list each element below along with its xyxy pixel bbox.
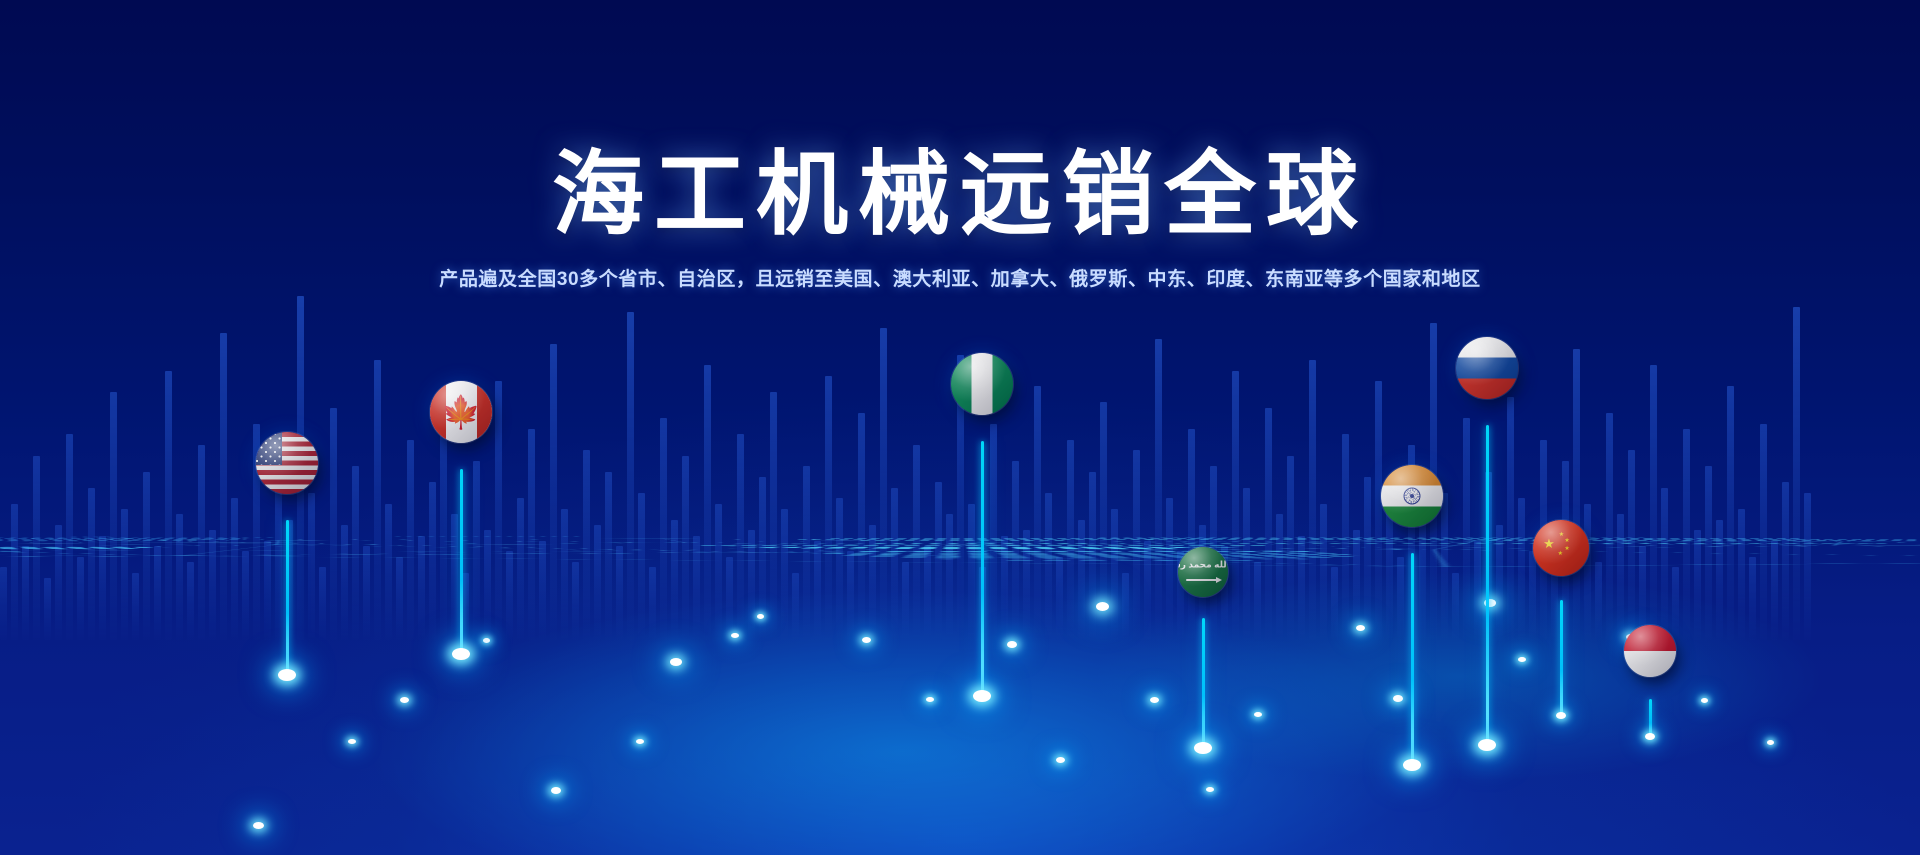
chart-bar [506,551,513,640]
map-node [551,787,561,794]
chart-bar [1716,520,1723,640]
chart-bar [308,493,315,640]
chart-bar [0,567,7,640]
chart-bar [1287,456,1294,640]
chart-bar [1100,402,1107,640]
pin-flag-disc[interactable] [1381,465,1443,527]
flag-ru-icon [1456,337,1518,399]
hero-banner: 美国🍁加拿大尼日利亚俄罗斯印度لا إله إلا الله محمد رسول… [0,0,1920,855]
chart-bar [11,504,18,640]
chart-bar [737,434,744,640]
map-node [1056,757,1065,763]
chart-bar [1144,541,1151,640]
flag-id-icon [1624,625,1676,677]
chart-bar [1023,530,1030,640]
chart-bar [594,525,601,640]
chart-bar [1771,541,1778,640]
chart-bar [1474,541,1481,640]
chart-bar [572,562,579,640]
chart-bar [528,429,535,640]
chart-bar [1496,525,1503,640]
chart-bar [132,573,139,640]
chart-bar [1309,360,1316,640]
map-node [636,739,644,744]
chart-bar [1353,530,1360,640]
chart-bar [1188,429,1195,640]
pin-flag-disc[interactable] [256,432,318,494]
map-node [670,658,682,666]
chart-bar [803,466,810,640]
chart-bar [1331,567,1338,640]
pin-flag-disc[interactable] [1456,337,1518,399]
chart-bar [396,557,403,640]
chart-bar [913,445,920,640]
chart-bar [1243,488,1250,640]
pin-ground-node [1556,712,1566,719]
chart-bar [715,504,722,640]
chart-bar [814,541,821,640]
pin-ground-node [278,669,296,681]
chart-bar [561,509,568,640]
chart-bar [748,530,755,640]
chart-bar [1573,349,1580,640]
chart-bar [1397,557,1404,640]
map-node [731,633,739,638]
chart-bar [869,525,876,640]
map-node [1393,695,1403,702]
pin-ground-node [1478,739,1496,751]
pin-flag-disc[interactable] [951,353,1013,415]
pin-ground-node [1645,733,1655,740]
chart-bar [1320,504,1327,640]
chart-bar [187,562,194,640]
chart-bar [1111,509,1118,640]
page-title: 海工机械远销全球 [0,148,1920,244]
chart-bar [1298,536,1305,640]
flag-ca-icon: 🍁 [430,381,492,443]
chart-bar [990,424,997,640]
chart-bar [473,461,480,640]
chart-bar [242,551,249,640]
chart-bar [231,498,238,640]
chart-bar [22,546,29,640]
chart-bar [1518,498,1525,640]
chart-bar [1683,429,1690,640]
chart-bar [176,514,183,640]
chart-bar [726,557,733,640]
chart-bar [946,514,953,640]
chart-bar [759,477,766,640]
chart-bar [1012,461,1019,640]
chart-bar [330,408,337,640]
chart-bar [88,488,95,640]
chart-bar [1089,472,1096,640]
chart-bar [968,504,975,640]
chart-bar [1122,573,1129,640]
chart-bar [352,466,359,640]
chart-bar [1650,365,1657,640]
map-node [253,822,264,829]
pin-ground-node [452,648,470,660]
chart-bar [1507,397,1514,640]
chart-bar [517,498,524,640]
chart-bar [539,541,546,640]
map-node [1254,712,1262,717]
chart-bar [649,567,656,640]
pin-ground-node [1194,742,1212,754]
pin-ground-node [1403,759,1421,771]
chart-bar [1760,424,1767,640]
chart-bar [1001,536,1008,640]
chart-bar [484,530,491,640]
chart-bar [693,536,700,640]
chart-bar [110,392,117,640]
chart-bar [165,371,172,640]
map-node [862,637,871,643]
chart-bar [638,493,645,640]
chart-bar [836,498,843,640]
map-node [757,614,764,619]
chart-bar [407,440,414,640]
chart-bar [1606,413,1613,640]
chart-bar [220,333,227,640]
pin-stem [1202,618,1205,748]
pin-stem [1486,425,1489,745]
chart-bar [1804,493,1811,640]
chart-bar [583,450,590,640]
chart-bar [1749,557,1756,640]
map-node [926,697,934,702]
chart-bar [682,456,689,640]
chart-bar [44,578,51,640]
chart-bar [1782,482,1789,640]
chart-bar [935,482,942,640]
chart-bar [341,525,348,640]
chart-bar [55,525,62,640]
map-node [1150,697,1159,703]
map-node [1767,740,1774,745]
flag-cn-icon: ★★★★★ [1533,520,1589,576]
chart-bar [1276,514,1283,640]
chart-bar [550,344,557,640]
chart-bar [858,413,865,640]
chart-bar [1265,408,1272,640]
chart-bar [77,557,84,640]
chart-bar [1738,509,1745,640]
chart-bar [319,567,326,640]
map-node [483,638,490,643]
chart-bar [616,546,623,640]
pin-flag-disc[interactable] [1624,625,1676,677]
flag-ng-icon [951,353,1013,415]
chart-bar [462,573,469,640]
chart-bar [704,365,711,640]
chart-bar [891,488,898,640]
chart-bar [1661,488,1668,640]
chart-bar [1078,520,1085,640]
chart-bar [374,360,381,640]
chart-bar [902,562,909,640]
chart-bar [605,472,612,640]
chart-bar [209,530,216,640]
chart-bar [825,376,832,640]
chart-bar [1232,371,1239,640]
chart-bar [792,573,799,640]
map-node [1007,641,1017,648]
chart-bar [1342,434,1349,640]
chart-bar [1705,466,1712,640]
chart-bar [121,509,128,640]
chart-bar [847,551,854,640]
chart-bar [1155,339,1162,640]
chart-bar [671,520,678,640]
chart-bar [660,418,667,640]
pin-stem [1411,553,1414,765]
page-subtitle: 产品遍及全国30多个省市、自治区，且远销至美国、澳大利亚、加拿大、俄罗斯、中东、… [0,266,1920,295]
chart-bar [1617,514,1624,640]
map-node [1701,698,1708,703]
chart-bar [1364,477,1371,640]
chart-bar [1727,386,1734,640]
map-node [400,697,409,703]
chart-bar [363,546,370,640]
chart-bar [99,536,106,640]
pin-stem [286,520,289,675]
chart-bar [275,477,282,640]
chart-bar [770,392,777,640]
pin-ground-node [973,690,991,702]
chart-bar [154,546,161,640]
chart-bar [1067,440,1074,640]
chart-bar [1628,450,1635,640]
chart-bar [924,546,931,640]
chart-bar [1056,557,1063,640]
headline-block: 海工机械远销全球 产品遍及全国30多个省市、自治区，且远销至美国、澳大利亚、加拿… [0,0,1920,294]
chart-bar [385,504,392,640]
chart-bar [1793,307,1800,640]
map-node [1518,657,1526,662]
pin-flag-disc[interactable]: لا إله إلا الله محمد رسول الله [1178,547,1228,597]
chart-bar [66,434,73,640]
chart-bar [451,514,458,640]
pin-flag-disc[interactable]: 🍁 [430,381,492,443]
chart-bar [1463,418,1470,640]
map-node [1356,625,1365,631]
pin-stem [1560,600,1563,718]
chart-bar [198,445,205,640]
chart-bar [1045,493,1052,640]
chart-bar [781,509,788,640]
pin-flag-disc[interactable]: ★★★★★ [1533,520,1589,576]
chart-bar [33,456,40,640]
chart-bar [627,312,634,640]
map-node [1206,787,1214,792]
flag-in-icon [1381,465,1443,527]
flag-us-icon [256,432,318,494]
map-node [1096,602,1109,611]
chart-bar [1034,386,1041,640]
chart-bar [1254,562,1261,640]
chart-bar [1452,573,1459,640]
chart-bar [1694,530,1701,640]
map-node [348,739,356,744]
chart-bar [143,472,150,640]
chart-bar [1595,562,1602,640]
chart-bar [495,381,502,640]
chart-bar [1386,509,1393,640]
pin-stem [981,441,984,696]
chart-bar [1133,450,1140,640]
pin-stem [460,469,463,654]
chart-bar [429,482,436,640]
flag-sa-icon: لا إله إلا الله محمد رسول الله [1178,547,1228,597]
chart-bar [264,541,271,640]
chart-bar [1166,498,1173,640]
chart-bar [418,536,425,640]
chart-bar [1419,520,1426,640]
chart-bar [880,328,887,640]
